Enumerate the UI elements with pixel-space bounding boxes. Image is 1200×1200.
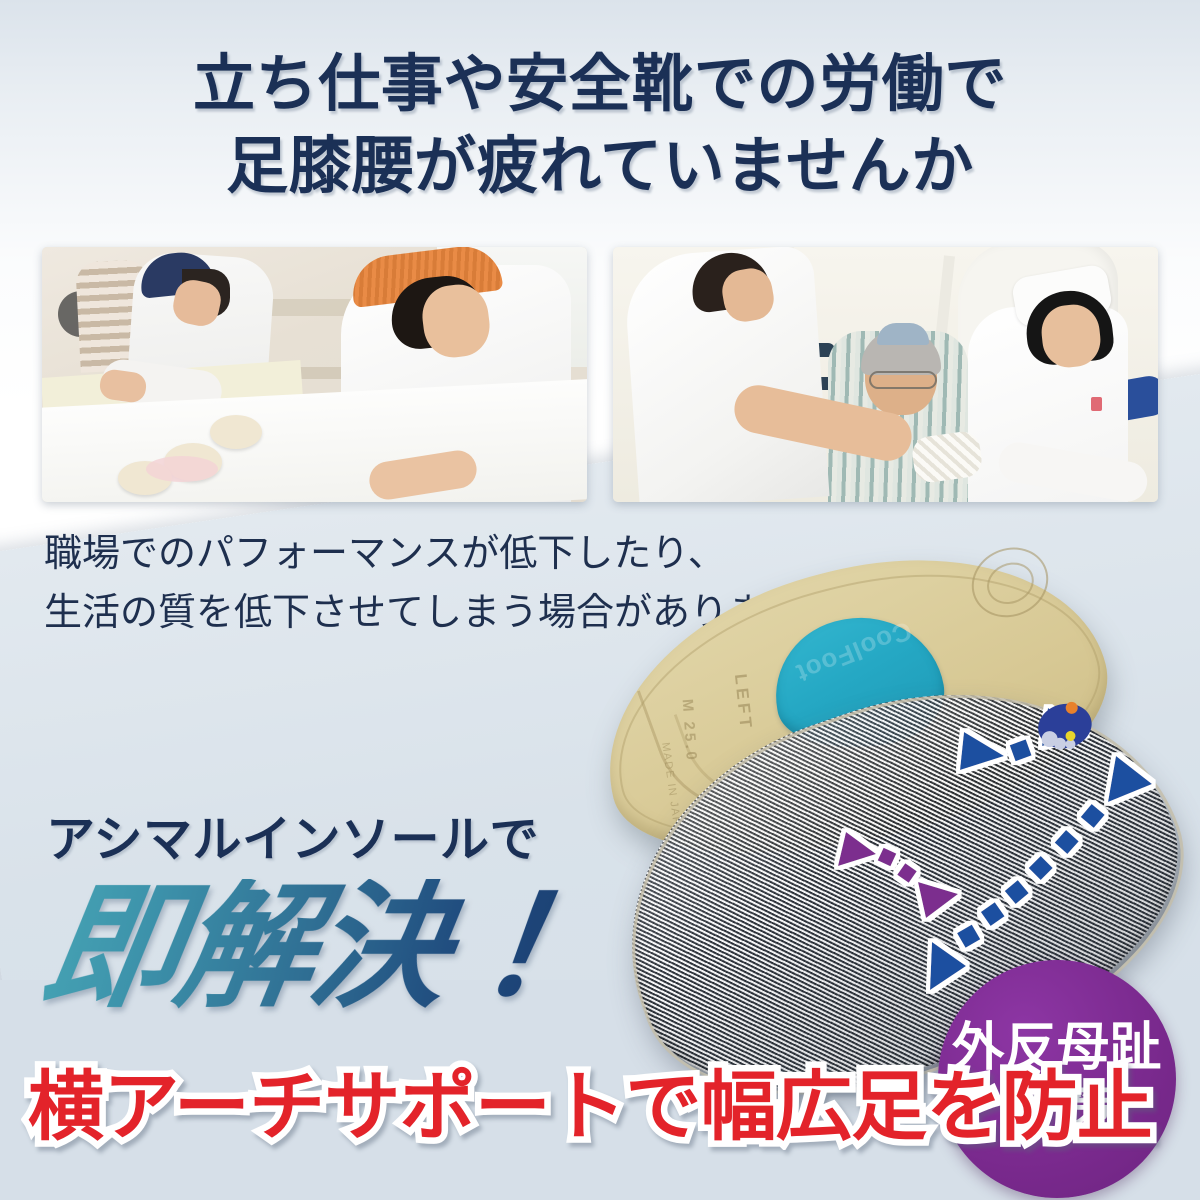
main-headline: 立ち仕事や安全靴での労働で 足膝腰が疲れていませんか	[0, 44, 1200, 209]
insole-emboss-left: LEFT	[730, 673, 756, 732]
solution-copy: アシマルインソールで 即解決！	[46, 800, 579, 1015]
kitchen-scene	[42, 247, 587, 502]
care-scene	[613, 247, 1158, 502]
headline-line-2: 足膝腰が疲れていませんか	[0, 126, 1200, 208]
photo-row	[42, 247, 1158, 502]
dough-ball	[210, 415, 262, 449]
insole-emboss-size: M 25.0	[679, 698, 700, 763]
kitchen-workers-photo	[42, 247, 587, 502]
solution-subhead: アシマルインソールで	[46, 800, 579, 871]
nurse-badge	[1091, 397, 1102, 411]
pink-mat	[146, 456, 218, 482]
advertisement-poster: 立ち仕事や安全靴での労働で 足膝腰が疲れていませんか	[0, 0, 1200, 1200]
patient-glasses	[869, 371, 937, 389]
solution-headline: 即解決！	[35, 879, 590, 1015]
bottom-banner-text: 横アーチサポートで幅広足を防止	[28, 1070, 1152, 1146]
caregiving-photo	[613, 247, 1158, 502]
headline-line-1: 立ち仕事や安全靴での労働で	[0, 44, 1200, 126]
patient-cap	[877, 323, 929, 345]
